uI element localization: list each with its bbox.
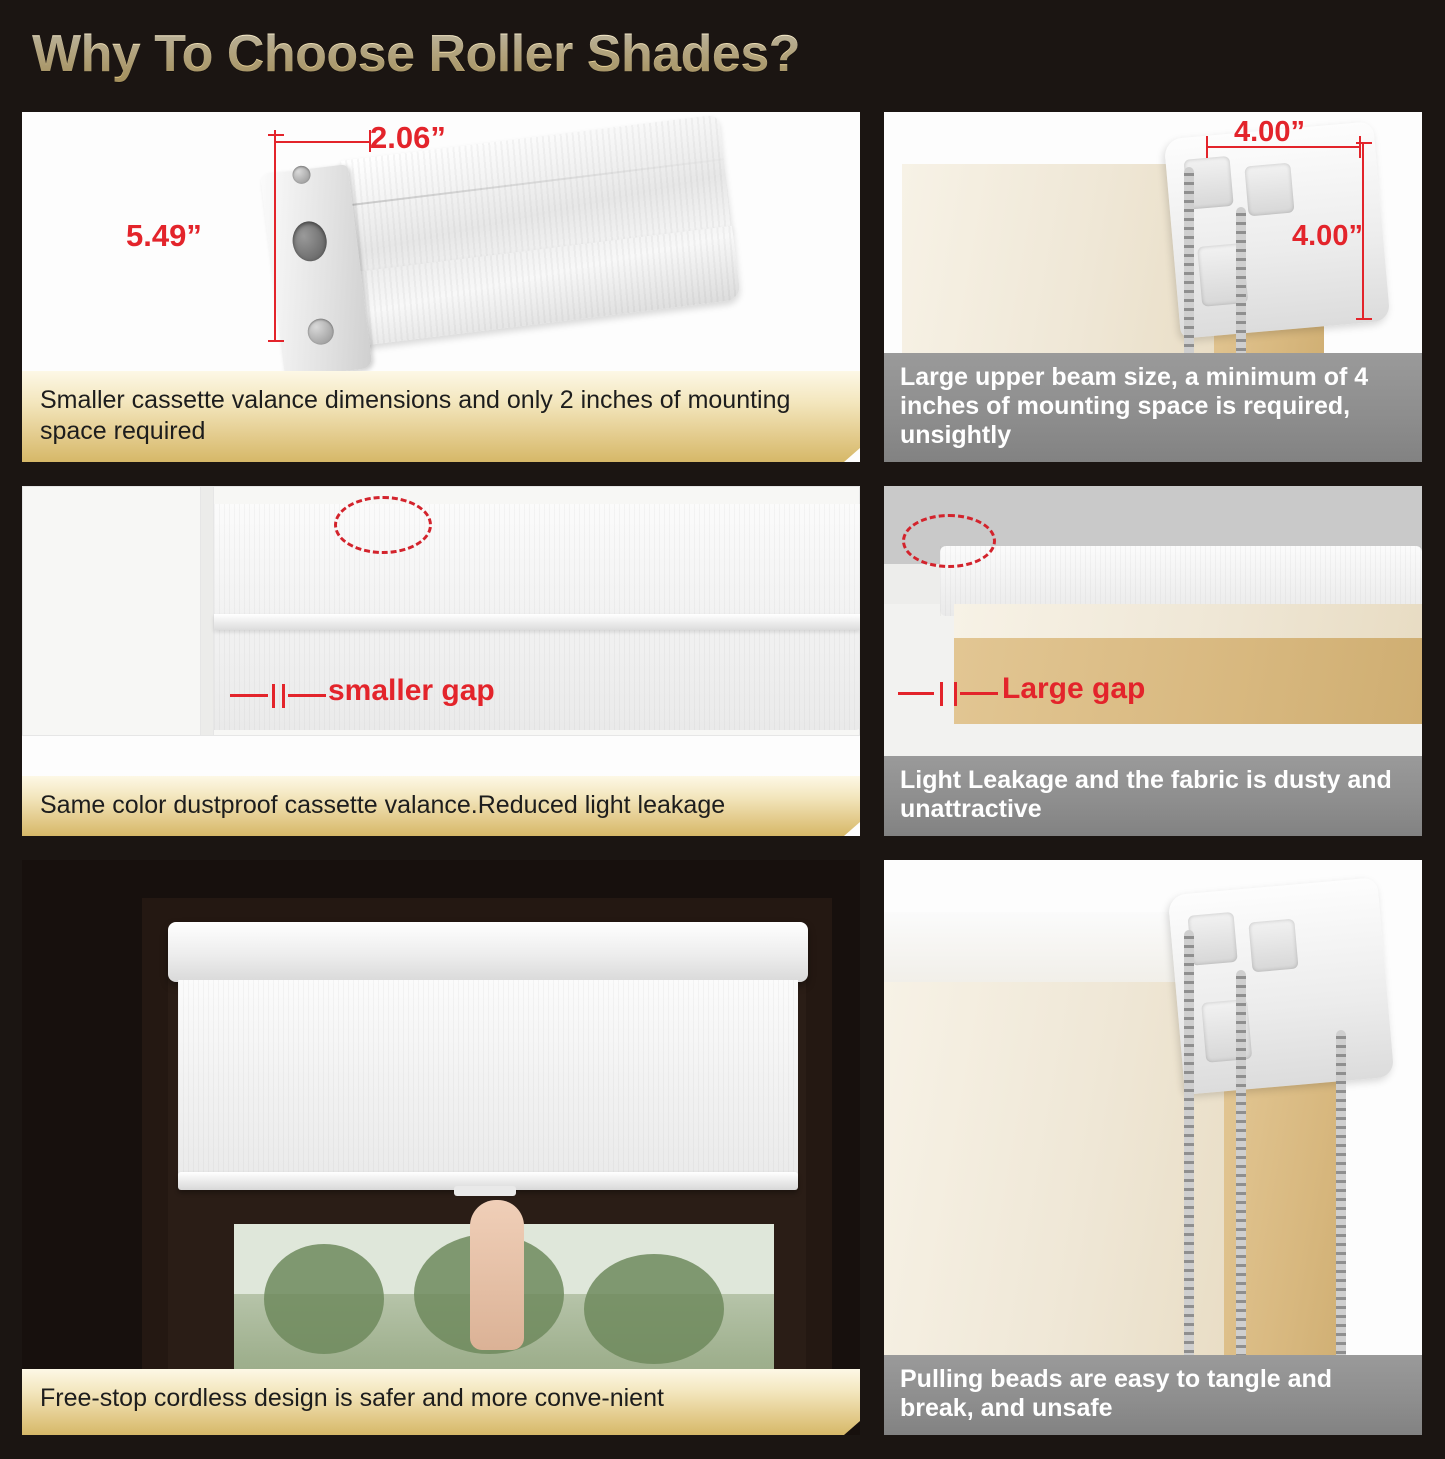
- smaller-gap-arrow: [230, 684, 330, 708]
- panel-3-image: smaller gap Same color dustproof cassett…: [22, 486, 860, 836]
- page-title: Why To Choose Roller Shades?: [32, 24, 800, 84]
- gap-highlight-ellipse: [334, 496, 432, 554]
- valance-screw-bottom: [306, 317, 335, 346]
- tree-3: [584, 1254, 724, 1364]
- valance-headrail: [168, 922, 808, 982]
- valance-screw-top: [291, 165, 311, 185]
- panel-large-gap: Large gap Light Leakage and the fabric i…: [884, 486, 1422, 836]
- beam-notch-b2: [1248, 919, 1298, 973]
- tree-1: [264, 1244, 384, 1354]
- panel-5-image: Free-stop cordless design is safer and m…: [22, 860, 860, 1435]
- panel-large-beam: 4.00” 4.00” Large upper beam size, a min…: [884, 112, 1422, 462]
- panel-3-caption: Same color dustproof cassette valance.Re…: [22, 776, 860, 837]
- bead-chain-third: [1336, 1030, 1346, 1400]
- window-frame-inner-edge: [200, 486, 214, 736]
- bead-chain-right-2: [1236, 970, 1246, 1400]
- width-dimension-label: 2.06”: [370, 120, 446, 156]
- panel-cassette-dimensions: 2.06” 5.49” Smaller cassette valance dim…: [22, 112, 860, 462]
- beam-notch-b: [1244, 163, 1294, 217]
- height-dimension-arrow: [274, 134, 282, 344]
- panel-6-image: Pulling beads are easy to tangle and bre…: [884, 860, 1422, 1435]
- panel-row-2: smaller gap Same color dustproof cassett…: [22, 486, 1422, 836]
- panel-1-caption: Smaller cassette valance dimensions and …: [22, 371, 860, 462]
- large-gap-arrow: [898, 682, 1008, 706]
- pull-handle: [454, 1186, 516, 1196]
- panel-6-caption: Pulling beads are easy to tangle and bre…: [884, 1355, 1422, 1435]
- roller-shade-lowered: [178, 980, 798, 1180]
- shade-bottom-rail: [214, 614, 860, 630]
- panel-5-caption: Free-stop cordless design is safer and m…: [22, 1369, 860, 1436]
- infographic-page: Why To Choose Roller Shades?: [0, 0, 1445, 1445]
- beam-width-label: 4.00”: [1234, 116, 1305, 149]
- panel-4-image: Large gap Light Leakage and the fabric i…: [884, 486, 1422, 836]
- beam-depth-dimension: [1362, 142, 1370, 322]
- gap-highlight-ellipse-2: [902, 514, 996, 568]
- hand: [470, 1200, 524, 1350]
- height-dimension-label: 5.49”: [126, 218, 202, 254]
- panel-2-caption: Large upper beam size, a minimum of 4 in…: [884, 353, 1422, 462]
- panel-grid: 2.06” 5.49” Smaller cassette valance dim…: [22, 112, 1422, 1459]
- valance-bracket-hole: [290, 219, 329, 263]
- panel-row-1: 2.06” 5.49” Smaller cassette valance dim…: [22, 112, 1422, 462]
- roller-upper-beam-2: [1168, 877, 1395, 1095]
- panel-2-image: 4.00” 4.00” Large upper beam size, a min…: [884, 112, 1422, 462]
- smaller-gap-label: smaller gap: [328, 674, 495, 708]
- panel-row-3: Free-stop cordless design is safer and m…: [22, 860, 1422, 1435]
- beam-notch-a2: [1188, 912, 1238, 966]
- panel-4-caption: Light Leakage and the fabric is dusty an…: [884, 756, 1422, 836]
- large-gap-label: Large gap: [1002, 672, 1145, 706]
- panel-beads: Pulling beads are easy to tangle and bre…: [884, 860, 1422, 1435]
- panel-1-image: 2.06” 5.49” Smaller cassette valance dim…: [22, 112, 860, 462]
- panel-cordless: Free-stop cordless design is safer and m…: [22, 860, 860, 1435]
- panel-smaller-gap: smaller gap Same color dustproof cassett…: [22, 486, 860, 836]
- beam-depth-label: 4.00”: [1292, 220, 1363, 253]
- bead-chain-left-2: [1184, 930, 1194, 1400]
